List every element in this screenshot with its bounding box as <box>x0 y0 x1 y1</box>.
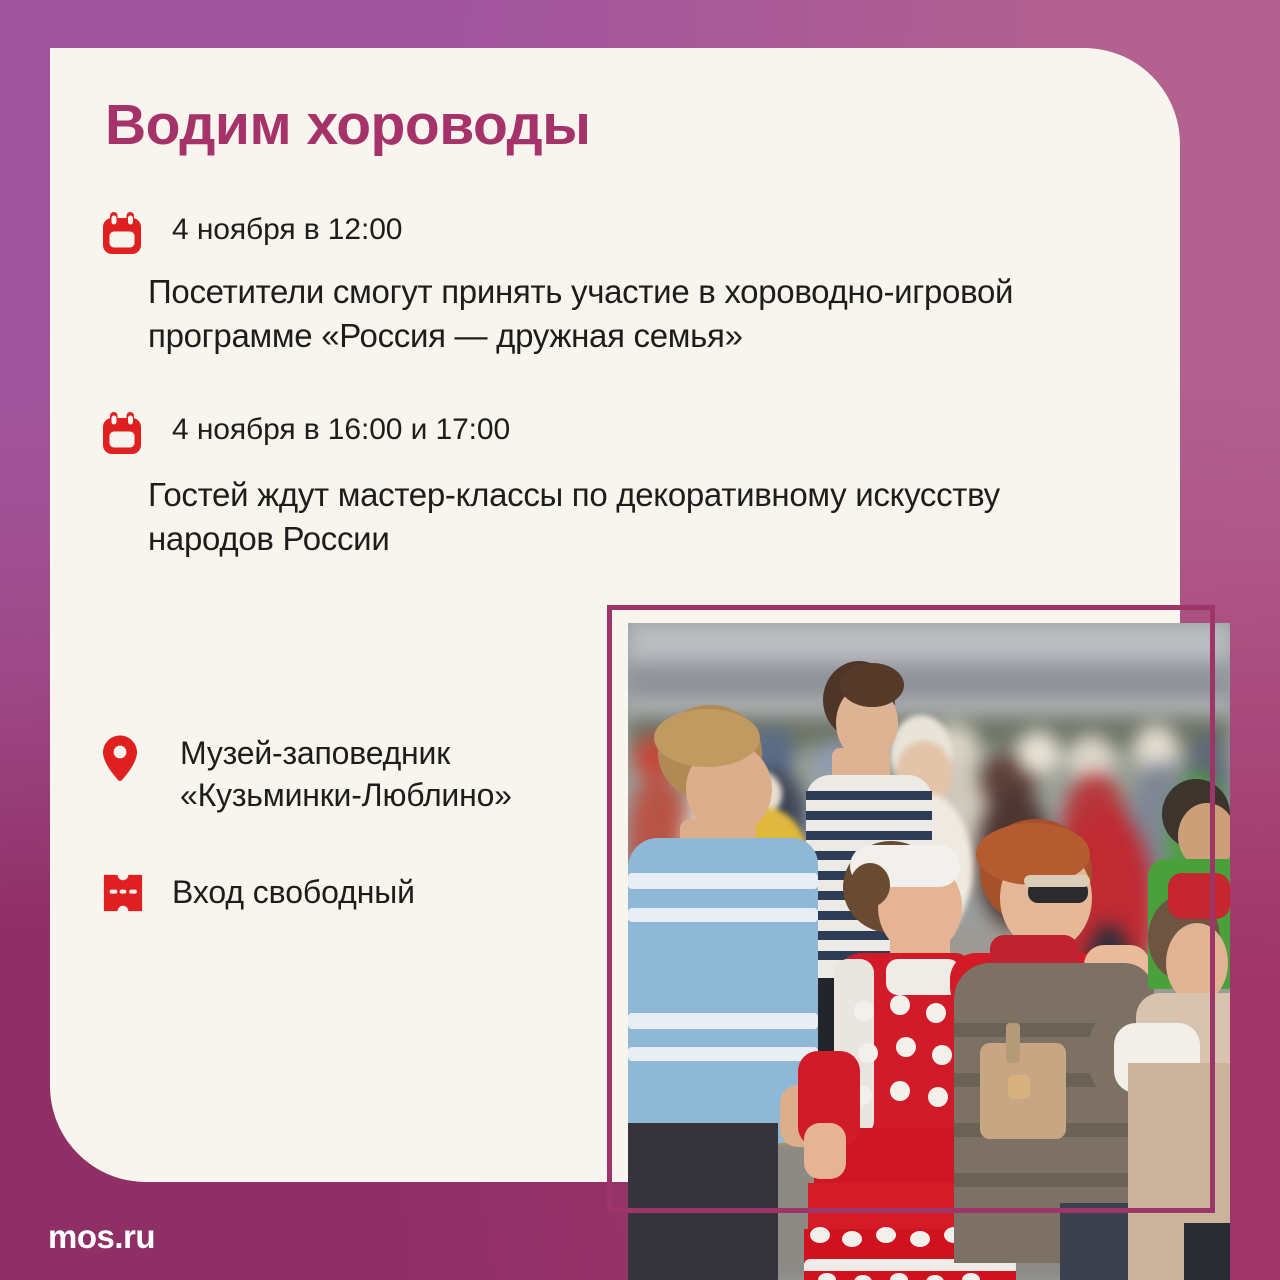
event-date-row-2: 4 ноября в 16:00 и 17:00 <box>102 410 510 454</box>
page-title: Водим хороводы <box>105 92 590 158</box>
venue-name: Музей-заповедник «Кузьминки-Люблино» <box>180 733 512 816</box>
event-date-1: 4 ноября в 12:00 <box>172 210 402 249</box>
entry-row: Вход свободный <box>102 872 415 914</box>
event-description-2: Гостей ждут мастер-классы по декоративно… <box>148 473 1078 561</box>
ticket-icon <box>102 872 144 914</box>
event-photo <box>628 623 1230 1280</box>
photo-foreground-layer <box>628 623 1230 1280</box>
event-date-row-1: 4 ноября в 12:00 <box>102 210 402 254</box>
venue-name-line1: Музей-заповедник <box>180 735 450 771</box>
calendar-icon <box>102 210 144 254</box>
entry-label: Вход свободный <box>172 872 415 914</box>
map-pin-icon <box>102 733 144 781</box>
calendar-icon <box>102 410 144 454</box>
event-description-1: Посетители смогут принять участие в хоро… <box>148 270 1123 358</box>
event-date-2: 4 ноября в 16:00 и 17:00 <box>172 410 510 449</box>
mos-ru-logo: mos.ru <box>48 1218 155 1256</box>
venue-name-line2: «Кузьминки-Люблино» <box>180 777 512 813</box>
venue-row: Музей-заповедник «Кузьминки-Люблино» <box>102 733 512 816</box>
